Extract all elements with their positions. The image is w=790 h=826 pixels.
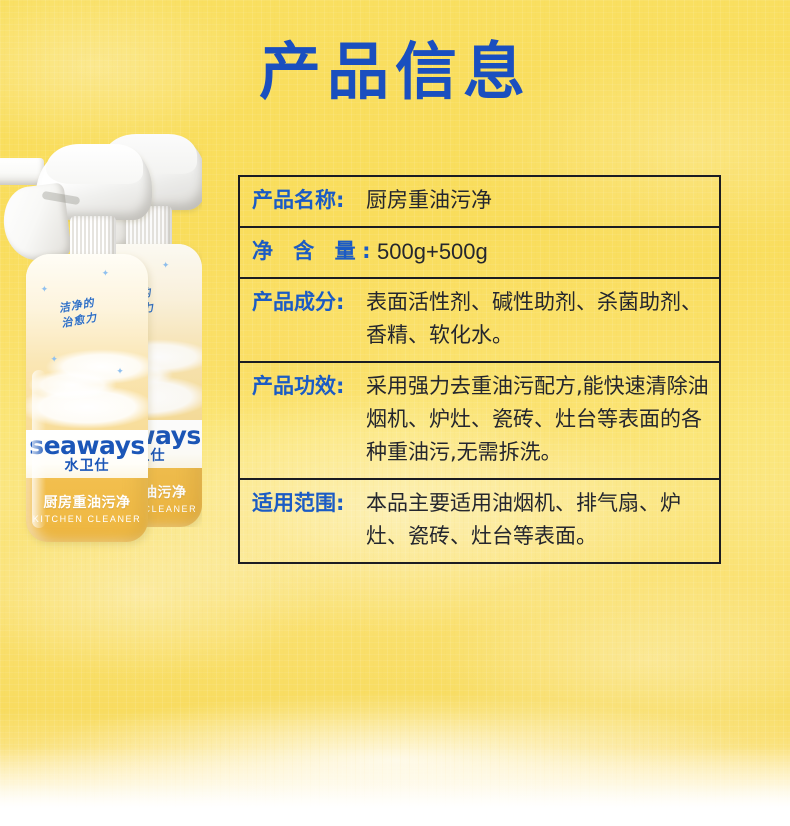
bottle-script-text: 洁净的治愈力 [58, 295, 99, 331]
table-row: 适用范围: 本品主要适用油烟机、排气扇、炉灶、瓷砖、灶台等表面。 [240, 480, 719, 564]
bottle-body: ✦ ✦ ✦ ✦ 洁净的治愈力 seaways 水卫仕 厨房重油污净 KITCHE… [26, 254, 148, 542]
sparkle-icon: ✦ [116, 366, 124, 377]
product-bottle-front: ✦ ✦ ✦ ✦ 洁净的治愈力 seaways 水卫仕 厨房重油污净 KITCHE… [26, 142, 148, 542]
background-bottom-fade [0, 746, 790, 826]
sparkle-icon: ✦ [102, 268, 110, 279]
table-row: 产品成分: 表面活性剂、碱性助剂、杀菌助剂、香精、软化水。 [240, 279, 719, 363]
bottle-shine [32, 370, 46, 528]
table-row: 产品功效: 采用强力去重油污配方,能快速清除油烟机、炉灶、瓷砖、灶台等表面的各种… [240, 363, 719, 480]
sparkle-icon: ✦ [41, 284, 49, 295]
sprayer-hood-highlight [46, 144, 144, 184]
sparkle-icon: ✦ [50, 354, 58, 365]
table-row: 净 含 量: 500g+500g [240, 228, 719, 279]
row-label: 净 含 量: [240, 235, 377, 268]
row-value: 厨房重油污净 [366, 184, 719, 217]
spray-head-icon [26, 142, 148, 260]
row-label: 产品成分: [240, 286, 366, 352]
row-value: 本品主要适用油烟机、排气扇、炉灶、瓷砖、灶台等表面。 [366, 487, 719, 553]
row-value: 表面活性剂、碱性助剂、杀菌助剂、香精、软化水。 [366, 286, 719, 352]
row-label: 适用范围: [240, 487, 366, 553]
row-label: 产品名称: [240, 184, 366, 217]
table-row: 产品名称: 厨房重油污净 [240, 177, 719, 228]
row-value: 采用强力去重油污配方,能快速清除油烟机、炉灶、瓷砖、灶台等表面的各种重油污,无需… [366, 370, 719, 469]
sparkle-icon: ✦ [162, 260, 170, 271]
product-info-table: 产品名称: 厨房重油污净 净 含 量: 500g+500g 产品成分: 表面活性… [238, 175, 721, 564]
row-label: 产品功效: [240, 370, 366, 469]
product-image: ✦ ✦ ✦ 洁净的治愈力 seaways 水卫仕 厨房重油污净 KITCHEN … [0, 118, 228, 543]
page-title: 产品信息 [0, 36, 790, 108]
row-value: 500g+500g [377, 235, 719, 268]
